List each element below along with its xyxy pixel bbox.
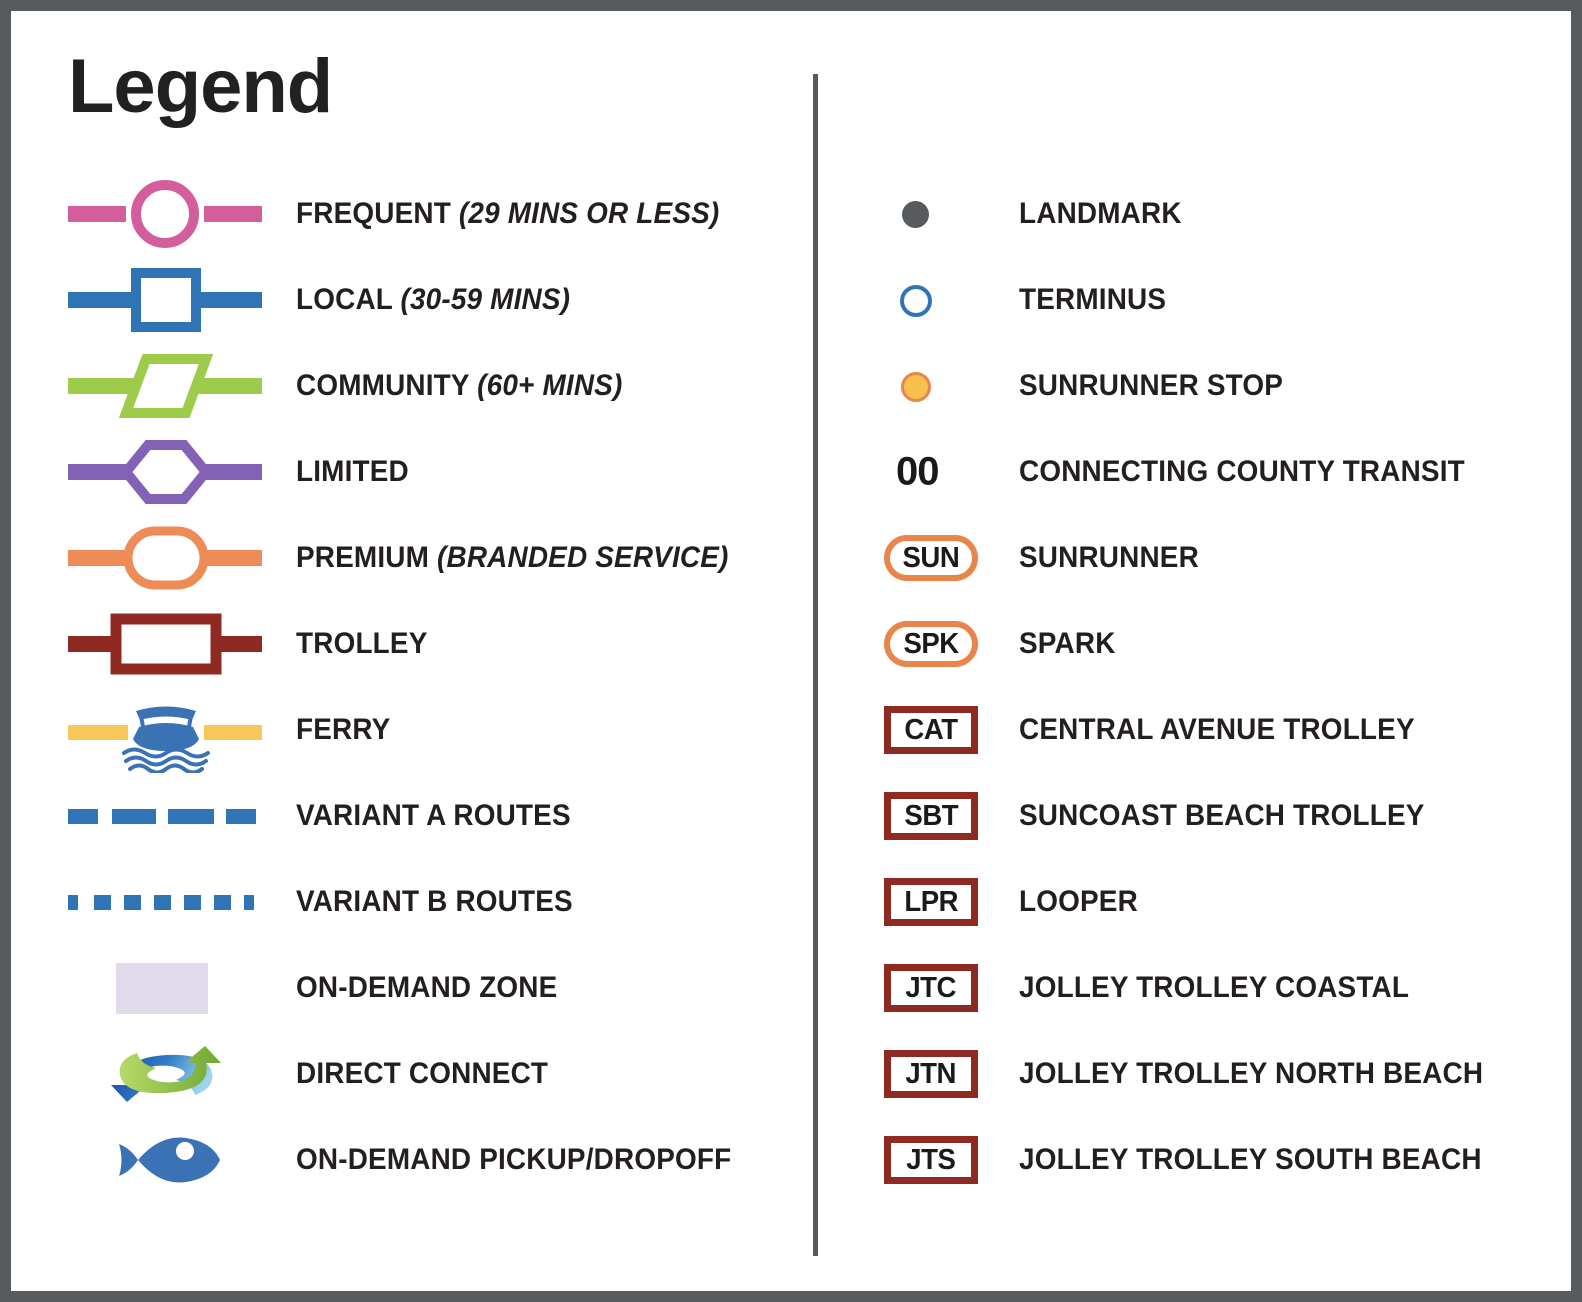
legend-item-frequent: FREQUENT (29 MINS OR LESS) (66, 171, 796, 257)
legend-label: FREQUENT (29 MINS OR LESS) (296, 197, 719, 231)
legend-item-premium: PREMIUM (BRANDED SERVICE) (66, 515, 796, 601)
sunrunner-stop-icon (866, 343, 1001, 429)
badge-text: SUN (903, 542, 960, 575)
legend-left-column: FREQUENT (29 MINS OR LESS) LOCAL (30-59 … (66, 171, 796, 1203)
legend-item-on-demand-zone: ON-DEMAND ZONE (66, 945, 796, 1031)
legend-item-suncoast-beach-trolley: SBT SUNCOAST BEACH TROLLEY (866, 773, 1556, 859)
legend-label: JOLLEY TROLLEY NORTH BEACH (1019, 1057, 1483, 1091)
legend-item-limited: LIMITED (66, 429, 796, 515)
legend-item-direct-connect: DIRECT CONNECT (66, 1031, 796, 1117)
legend-item-terminus: TERMINUS (866, 257, 1556, 343)
legend-item-jolley-trolley-coastal: JTC JOLLEY TROLLEY COASTAL (866, 945, 1556, 1031)
dashed-line-icon (66, 773, 266, 859)
legend-item-sunrunner-stop: SUNRUNNER STOP (866, 343, 1556, 429)
legend-label: TERMINUS (1019, 283, 1166, 317)
legend-label: CENTRAL AVENUE TROLLEY (1019, 713, 1415, 747)
route-number-text: 00 (896, 450, 939, 495)
legend-label: PREMIUM (BRANDED SERVICE) (296, 541, 728, 575)
terminus-ring-icon (866, 257, 1001, 343)
rect-badge-icon: JTC (866, 945, 1001, 1031)
direct-connect-icon (66, 1031, 266, 1117)
legend-label: SPARK (1019, 627, 1116, 661)
landmark-dot-icon (866, 171, 1001, 257)
column-divider (813, 74, 818, 1256)
badge-text: SPK (903, 628, 958, 661)
legend-label: LOOPER (1019, 885, 1138, 919)
rect-badge-icon: SBT (866, 773, 1001, 859)
rect-badge-icon: CAT (866, 687, 1001, 773)
legend-item-on-demand-pickup: ON-DEMAND PICKUP/DROPOFF (66, 1117, 796, 1203)
rect-badge-icon: JTN (866, 1031, 1001, 1117)
legend-item-landmark: LANDMARK (866, 171, 1556, 257)
rect-badge-icon: LPR (866, 859, 1001, 945)
legend-label: LOCAL (30-59 MINS) (296, 283, 570, 317)
legend-label: JOLLEY TROLLEY SOUTH BEACH (1019, 1143, 1482, 1177)
badge-text: JTN (906, 1058, 957, 1091)
legend-item-central-avenue-trolley: CAT CENTRAL AVENUE TROLLEY (866, 687, 1556, 773)
legend-panel: Legend FREQUENT (29 MINS OR LESS) (0, 0, 1582, 1302)
legend-item-community: COMMUNITY (60+ MINS) (66, 343, 796, 429)
page-title: Legend (68, 49, 332, 125)
ferry-boat-icon (66, 687, 266, 773)
legend-label: DIRECT CONNECT (296, 1057, 548, 1091)
legend-item-variant-b: VARIANT B ROUTES (66, 859, 796, 945)
legend-label: ON-DEMAND PICKUP/DROPOFF (296, 1143, 731, 1177)
route-line-circle-icon (66, 171, 266, 257)
legend-item-jolley-trolley-south-beach: JTS JOLLEY TROLLEY SOUTH BEACH (866, 1117, 1556, 1203)
legend-inner: Legend FREQUENT (29 MINS OR LESS) (11, 11, 1571, 1291)
route-number-icon: 00 (866, 429, 1001, 515)
pill-badge-icon: SPK (866, 601, 1001, 687)
pill-badge-icon: SUN (866, 515, 1001, 601)
legend-item-trolley: TROLLEY (66, 601, 796, 687)
legend-right-column: LANDMARK TERMINUS SUNRUNNER STOP 00 CONN… (866, 171, 1556, 1203)
dotted-line-icon (66, 859, 266, 945)
legend-label: FERRY (296, 713, 390, 747)
rect-badge-icon: JTS (866, 1117, 1001, 1203)
legend-item-connecting-county-transit: 00 CONNECTING COUNTY TRANSIT (866, 429, 1556, 515)
legend-label: JOLLEY TROLLEY COASTAL (1019, 971, 1409, 1005)
legend-item-sunrunner: SUN SUNRUNNER (866, 515, 1556, 601)
route-line-stadium-icon (66, 515, 266, 601)
badge-text: SBT (904, 800, 958, 833)
route-line-hexagon-icon (66, 429, 266, 515)
legend-label: LANDMARK (1019, 197, 1182, 231)
route-line-square-icon (66, 257, 266, 343)
legend-label: SUNRUNNER STOP (1019, 369, 1283, 403)
legend-label: LIMITED (296, 455, 409, 489)
fish-icon (66, 1117, 266, 1203)
badge-text: CAT (904, 714, 957, 747)
zone-swatch-icon (66, 945, 266, 1031)
legend-label: VARIANT B ROUTES (296, 885, 573, 919)
legend-item-ferry: FERRY (66, 687, 796, 773)
legend-label: CONNECTING COUNTY TRANSIT (1019, 455, 1465, 489)
legend-label: ON-DEMAND ZONE (296, 971, 557, 1005)
legend-label: SUNRUNNER (1019, 541, 1199, 575)
legend-item-variant-a: VARIANT A ROUTES (66, 773, 796, 859)
legend-label: VARIANT A ROUTES (296, 799, 571, 833)
legend-item-jolley-trolley-north-beach: JTN JOLLEY TROLLEY NORTH BEACH (866, 1031, 1556, 1117)
legend-item-local: LOCAL (30-59 MINS) (66, 257, 796, 343)
badge-text: LPR (904, 886, 958, 919)
legend-label: SUNCOAST BEACH TROLLEY (1019, 799, 1425, 833)
legend-item-spark: SPK SPARK (866, 601, 1556, 687)
legend-label: COMMUNITY (60+ MINS) (296, 369, 622, 403)
badge-text: JTS (906, 1144, 955, 1177)
legend-label: TROLLEY (296, 627, 428, 661)
badge-text: JTC (906, 972, 957, 1005)
legend-item-looper: LPR LOOPER (866, 859, 1556, 945)
route-line-rectangle-icon (66, 601, 266, 687)
route-line-parallelogram-icon (66, 343, 266, 429)
